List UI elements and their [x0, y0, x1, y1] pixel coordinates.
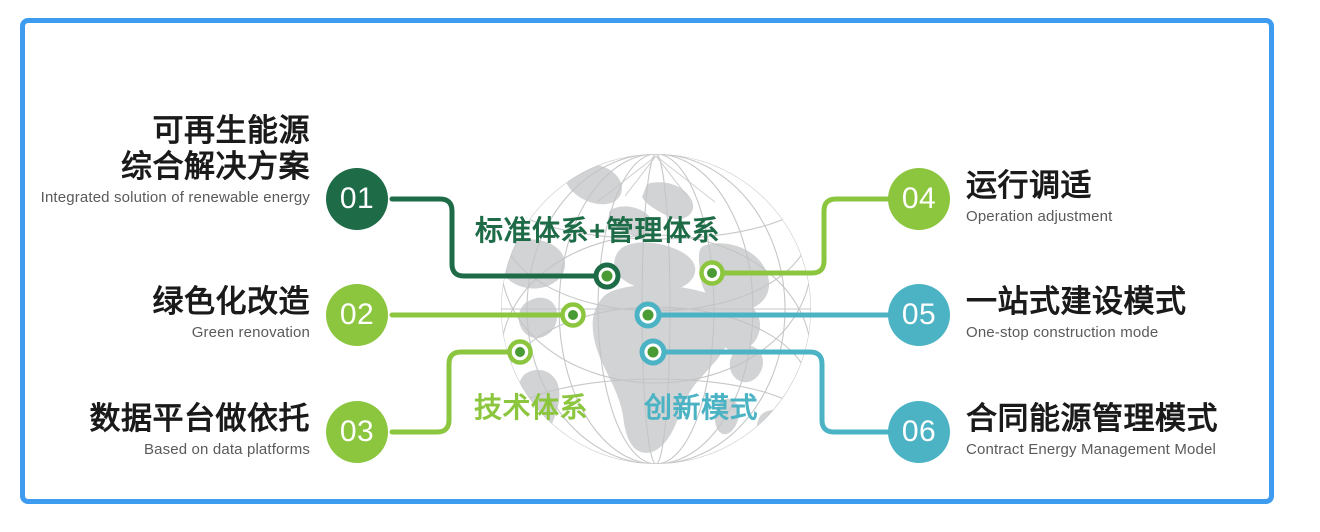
item-04-text: 运行调适 Operation adjustment — [966, 168, 1316, 225]
item-01-number: 01 — [340, 182, 374, 216]
item-03-text: 数据平台做依托 Based on data platforms — [0, 401, 310, 458]
item-04-number: 04 — [902, 182, 936, 216]
item-06-text: 合同能源管理模式 Contract Energy Management Mode… — [966, 401, 1320, 458]
item-04-subtitle: Operation adjustment — [966, 208, 1316, 225]
item-03-title: 数据平台做依托 — [0, 401, 310, 437]
item-01-title-line2: 综合解决方案 — [0, 149, 310, 185]
item-05-number-badge[interactable]: 05 — [888, 284, 950, 346]
item-01-number-badge[interactable]: 01 — [326, 168, 388, 230]
item-04-number-badge[interactable]: 04 — [888, 168, 950, 230]
center-label-technology: 技术体系 — [474, 386, 588, 426]
item-06-number: 06 — [902, 415, 936, 449]
center-label-innovation: 创新模式 — [644, 386, 758, 426]
item-02-subtitle: Green renovation — [0, 324, 310, 341]
item-05-subtitle: One-stop construction mode — [966, 324, 1316, 341]
item-05-number: 05 — [902, 298, 936, 332]
center-label-standards: 标准体系+管理体系 — [475, 209, 720, 249]
item-01-text: 可再生能源 综合解决方案 Integrated solution of rene… — [0, 113, 310, 206]
item-02-number: 02 — [340, 298, 374, 332]
item-06-subtitle: Contract Energy Management Model — [966, 441, 1320, 458]
item-02-title: 绿色化改造 — [0, 284, 310, 320]
item-05-title: 一站式建设模式 — [966, 284, 1316, 320]
item-03-number-badge[interactable]: 03 — [326, 401, 388, 463]
infographic-canvas: 标准体系+管理体系 技术体系 创新模式 可再生能源 综合解决方案 Integra… — [0, 0, 1320, 532]
item-02-text: 绿色化改造 Green renovation — [0, 284, 310, 341]
item-03-subtitle: Based on data platforms — [0, 441, 310, 458]
item-01-title-line1: 可再生能源 — [0, 113, 310, 149]
item-05-text: 一站式建设模式 One-stop construction mode — [966, 284, 1316, 341]
item-06-number-badge[interactable]: 06 — [888, 401, 950, 463]
item-04-title: 运行调适 — [966, 168, 1316, 204]
item-02-number-badge[interactable]: 02 — [326, 284, 388, 346]
item-03-number: 03 — [340, 415, 374, 449]
item-01-subtitle: Integrated solution of renewable energy — [0, 189, 310, 206]
item-06-title: 合同能源管理模式 — [966, 401, 1320, 437]
